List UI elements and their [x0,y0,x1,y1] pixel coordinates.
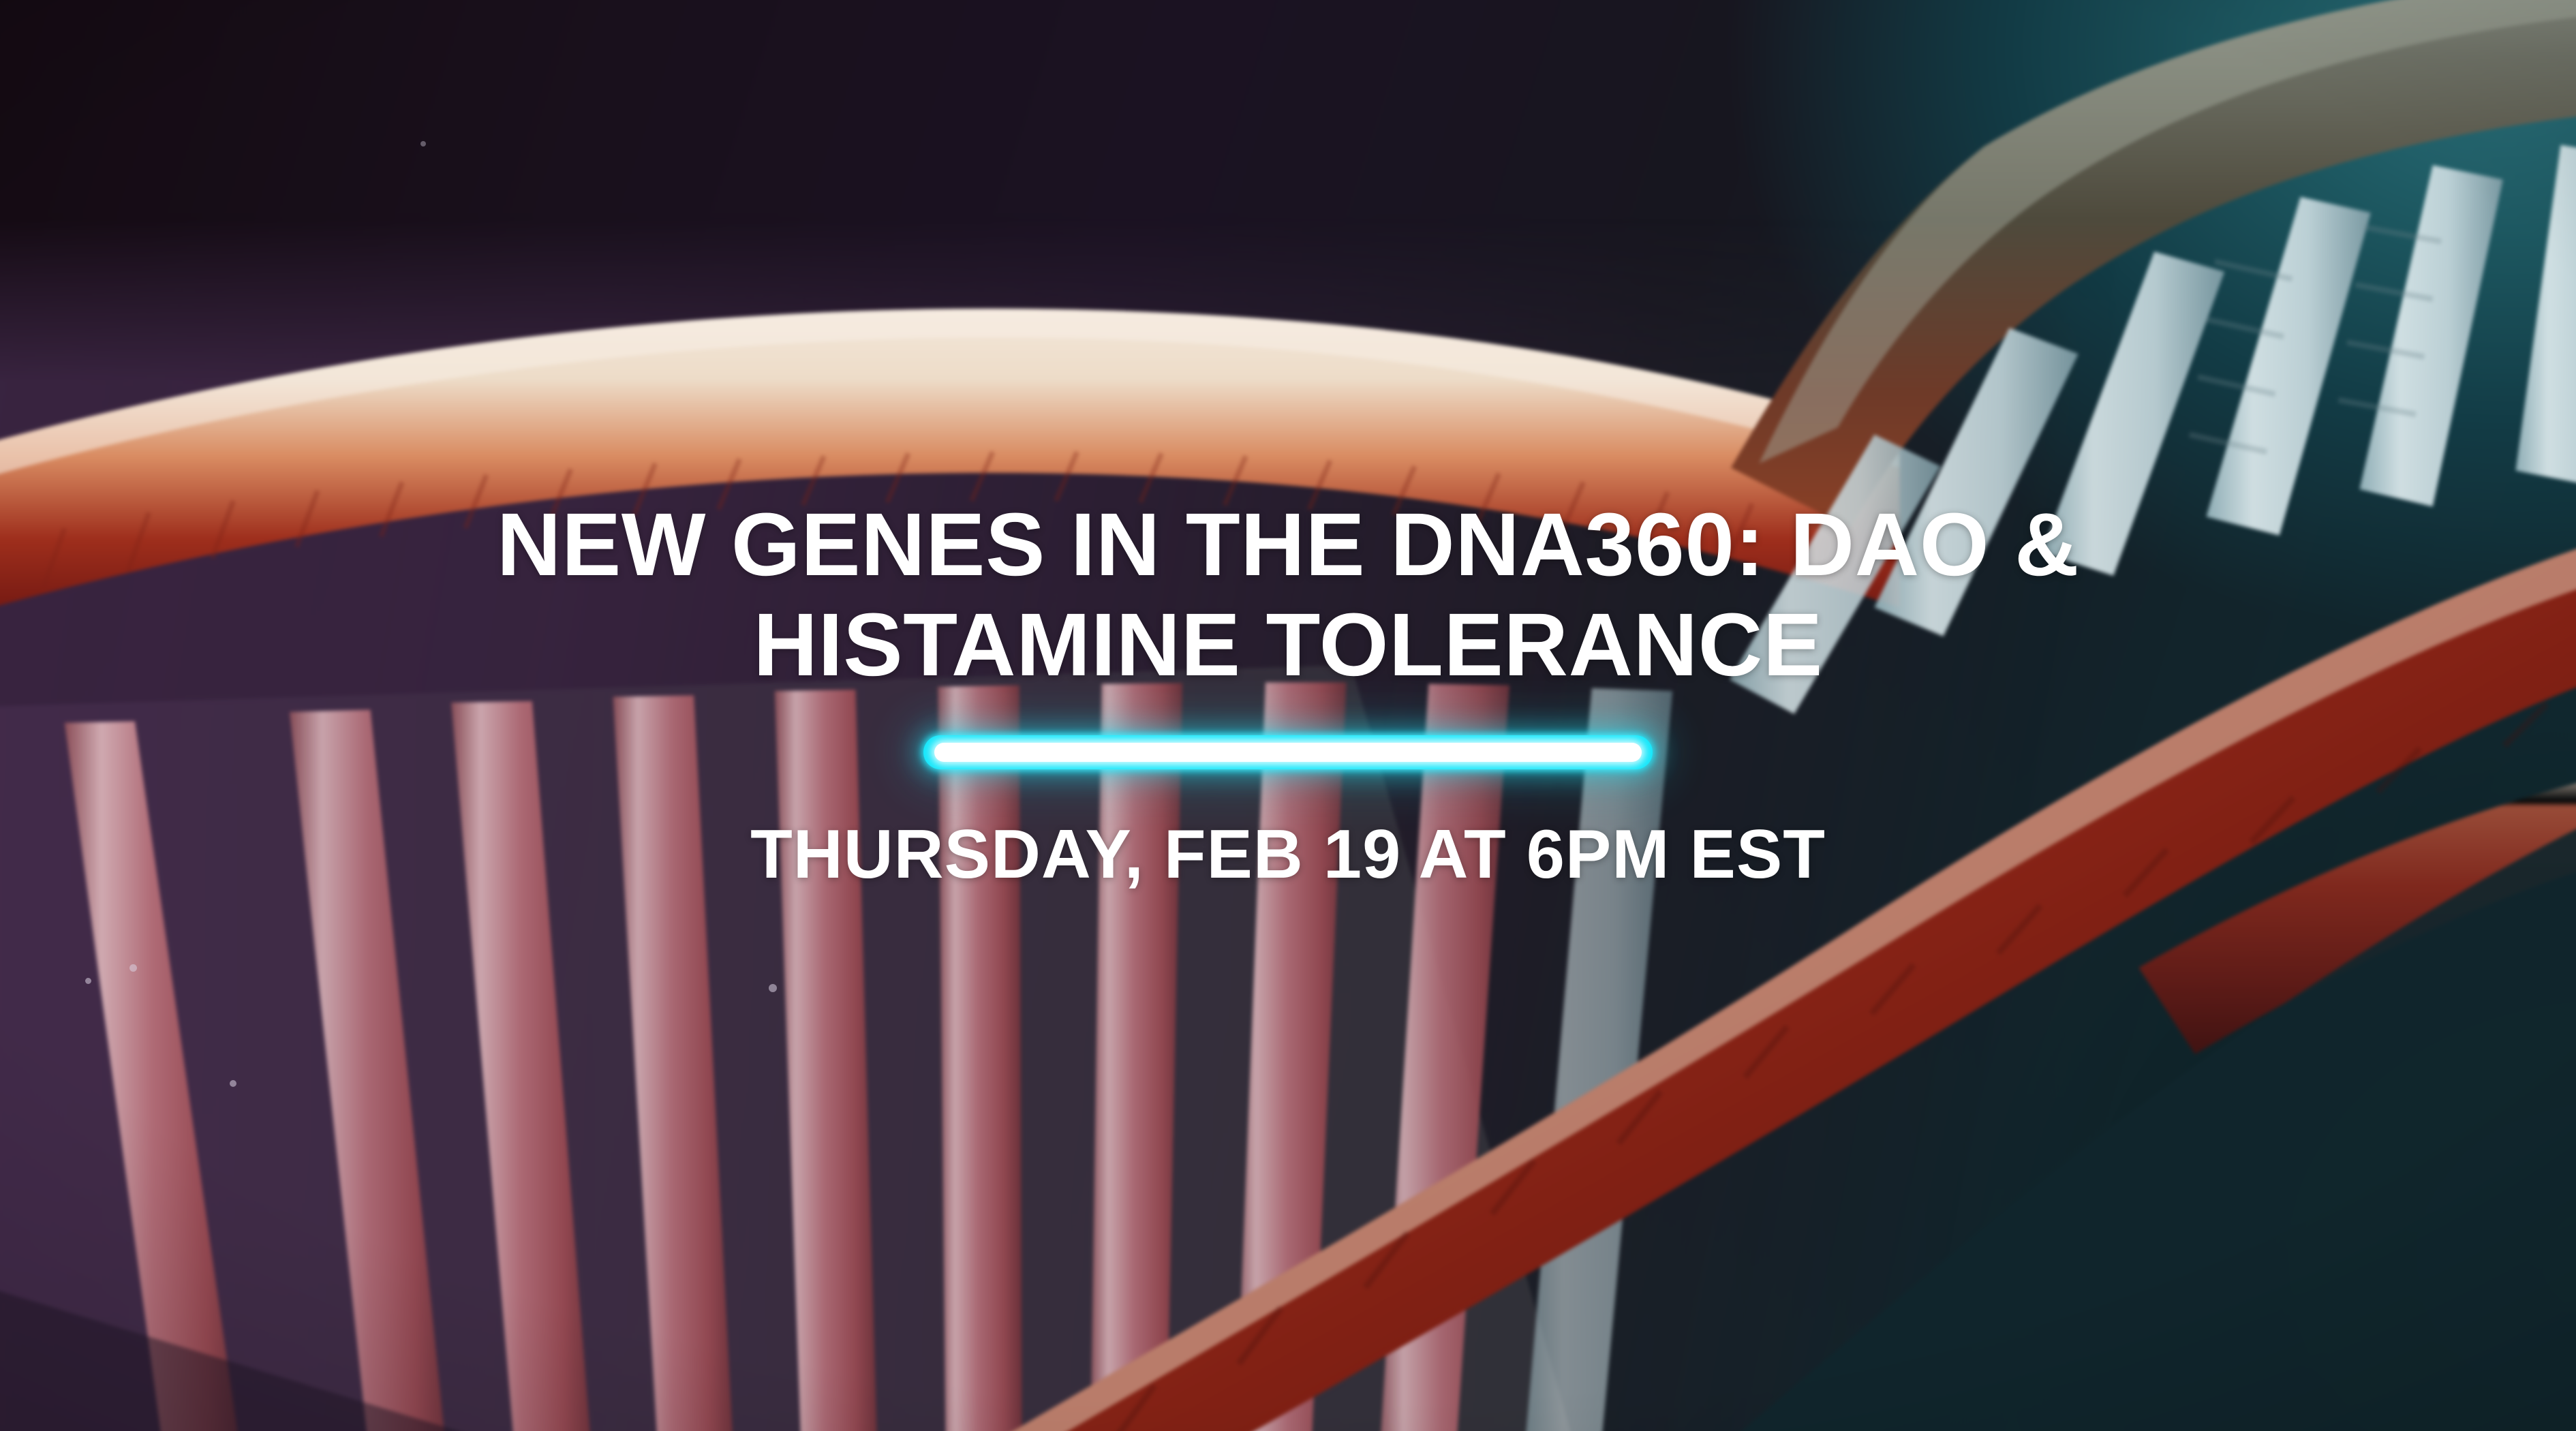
banner-title: NEW GENES IN THE DNA360: DAO & HISTAMINE… [348,495,2228,694]
banner-title-line-1: NEW GENES IN THE DNA360: DAO & [348,495,2228,595]
banner-content: NEW GENES IN THE DNA360: DAO & HISTAMINE… [0,0,2576,1431]
promo-banner: NEW GENES IN THE DNA360: DAO & HISTAMINE… [0,0,2576,1431]
banner-title-line-2: HISTAMINE TOLERANCE [348,595,2228,695]
neon-divider-container [923,735,1653,769]
banner-subtitle-datetime: THURSDAY, FEB 19 AT 6PM EST [750,817,1826,893]
neon-divider-bar [923,735,1653,769]
